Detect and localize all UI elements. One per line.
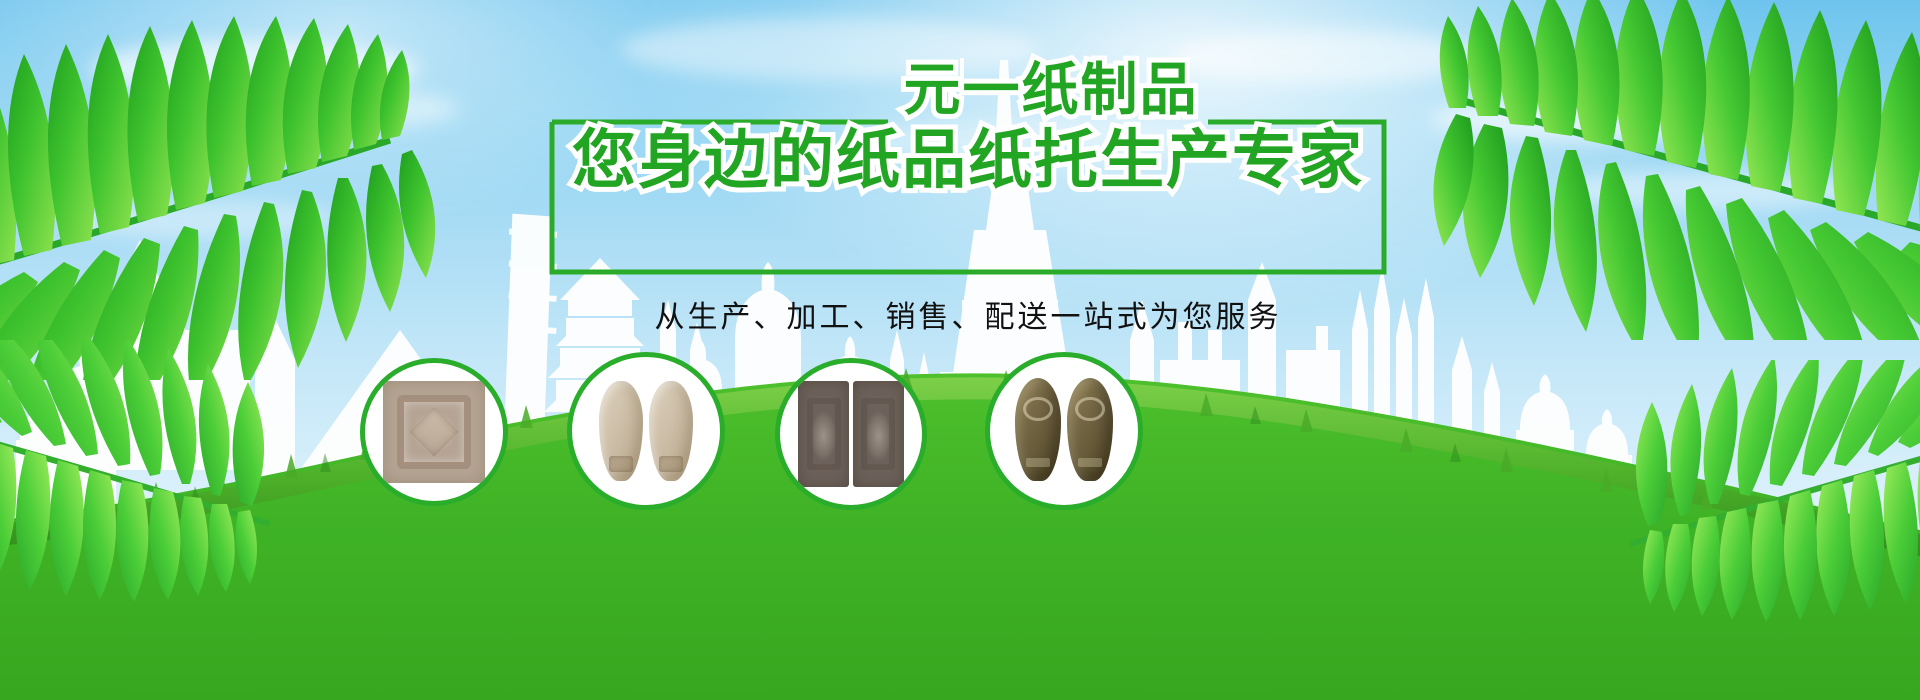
product-circle-1[interactable] xyxy=(360,358,508,506)
molded-pulp-double-tray-image xyxy=(798,381,903,486)
product-circle-2[interactable] xyxy=(567,352,725,510)
product-circle-row xyxy=(0,0,1920,700)
molded-pulp-dark-shoe-tray-image xyxy=(1009,376,1119,486)
product-circle-4[interactable] xyxy=(985,352,1143,510)
molded-pulp-shoe-insert-image xyxy=(591,376,701,486)
molded-pulp-square-tray-image xyxy=(383,381,485,483)
product-circle-3[interactable] xyxy=(775,358,927,510)
promo-banner: 元一纸制品 您身边的纸品纸托生产专家 从生产、加工、销售、配送一站式为您服务 xyxy=(0,0,1920,700)
